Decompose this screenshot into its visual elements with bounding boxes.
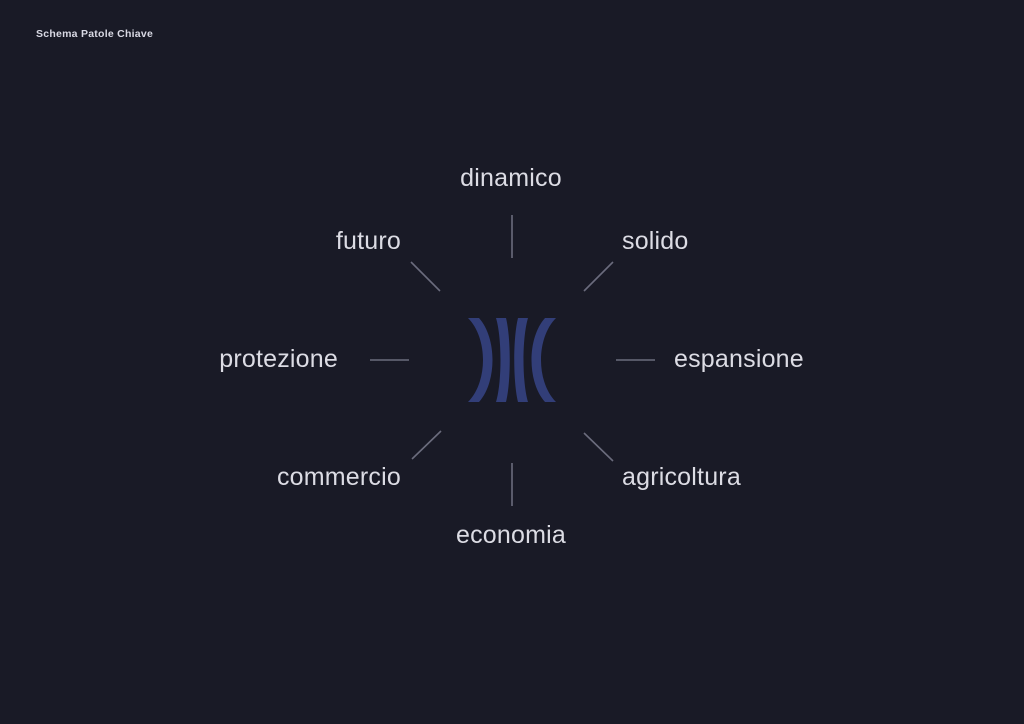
node-label-agricoltura[interactable]: agricoltura [622, 465, 741, 490]
node-label-economia[interactable]: economia [456, 523, 566, 548]
node-label-solido[interactable]: solido [622, 229, 689, 254]
connector-agricoltura [584, 433, 613, 461]
node-label-commercio[interactable]: commercio [277, 465, 401, 490]
connector-commercio [412, 431, 441, 459]
canvas: Schema Patole Chiave [0, 0, 1024, 724]
connector-futuro [411, 262, 440, 291]
node-label-protezione[interactable]: protezione [219, 347, 338, 372]
node-label-futuro[interactable]: futuro [336, 229, 401, 254]
node-label-espansione[interactable]: espansione [674, 347, 804, 372]
keyword-schema-diagram: dinamico futuro solido protezione espans… [0, 0, 1024, 724]
node-label-dinamico[interactable]: dinamico [460, 166, 562, 191]
brand-mark-icon [462, 314, 562, 406]
connector-solido [584, 262, 613, 291]
